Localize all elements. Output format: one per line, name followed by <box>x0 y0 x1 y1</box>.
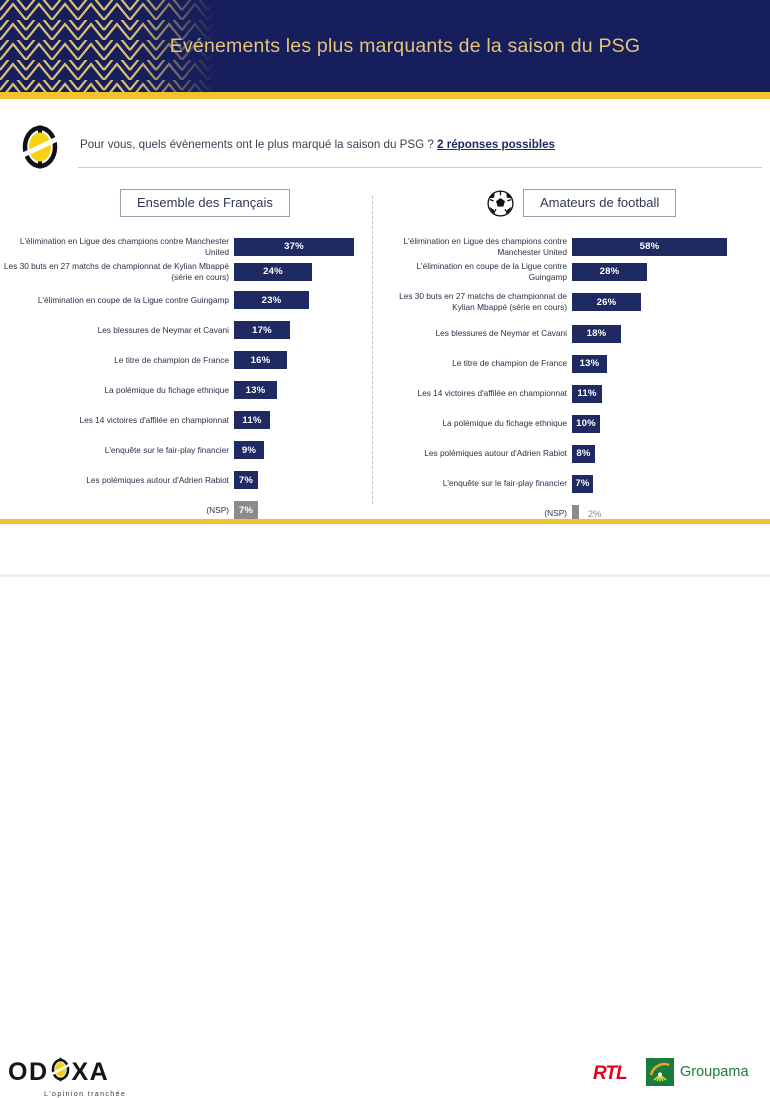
groupama-emblem-icon <box>646 1058 674 1086</box>
odoxa-o-icon <box>50 1057 71 1087</box>
rtl-logo: RTL <box>593 1063 627 1085</box>
chart-row: Les 14 victoires d'affilée en championna… <box>378 385 770 403</box>
bar: 18% <box>572 325 621 343</box>
bar: 17% <box>234 321 290 339</box>
chart-row: L'élimination en coupe de la Ligue contr… <box>0 291 372 309</box>
row-label: L'élimination en coupe de la Ligue contr… <box>378 261 572 282</box>
row-label: L'élimination en Ligue des champions con… <box>378 236 572 257</box>
bar-value: 11% <box>242 415 261 426</box>
bar: 9% <box>234 441 264 459</box>
bar-track: 11% <box>234 411 372 429</box>
odoxa-wordmark: OD XA <box>8 1057 126 1087</box>
bar-track: 18% <box>572 325 770 343</box>
header-white-rule <box>0 99 770 101</box>
bar: 7% <box>234 471 258 489</box>
row-label: Les 14 victoires d'affilée en championna… <box>0 415 234 426</box>
row-label: Les polémiques autour d'Adrien Rabiot <box>378 448 572 459</box>
bar-track: 11% <box>572 385 770 403</box>
bar-value: 13% <box>246 385 266 396</box>
page-header: Evénements les plus marquants de la sais… <box>0 0 770 92</box>
bar: 37% <box>234 238 354 256</box>
panel-label-amateurs-de-football: Amateurs de football <box>523 189 676 217</box>
chart-amateurs-de-football: L'élimination en Ligue des champions con… <box>378 236 770 527</box>
row-label: Le titre de champion de France <box>0 355 234 366</box>
bar: 26% <box>572 293 641 311</box>
row-label: (NSP) <box>0 505 234 516</box>
bar-track: 13% <box>234 381 372 399</box>
bar: 24% <box>234 263 312 281</box>
odoxa-logo-mark <box>17 124 63 170</box>
groupama-logo: Groupama <box>646 1058 749 1086</box>
odoxa-word-before: OD <box>8 1060 49 1085</box>
bar: 13% <box>234 381 277 399</box>
bar-track: 8% <box>572 445 770 463</box>
bar: 7% <box>572 475 593 493</box>
bar-value: 26% <box>597 297 617 308</box>
bar-value: 23% <box>262 295 282 306</box>
panel-heading-right: Amateurs de football <box>487 189 676 217</box>
bar: 13% <box>572 355 607 373</box>
bar-track: 7% <box>572 475 770 493</box>
bar-value: 16% <box>251 355 271 366</box>
bar-track: 58% <box>572 238 770 256</box>
bar-track: 23% <box>234 291 372 309</box>
row-label: Les 14 victoires d'affilée en championna… <box>378 388 572 399</box>
row-label: L'élimination en Ligue des champions con… <box>0 236 234 257</box>
header-gold-rule <box>0 92 770 99</box>
bar-value: 28% <box>600 266 620 277</box>
bar-value: 37% <box>284 241 304 252</box>
odoxa-tagline: L'opinion tranchée <box>44 1091 126 1098</box>
chart-row: Les blessures de Neymar et Cavani 18% <box>378 325 770 343</box>
bar: 7% <box>234 501 258 519</box>
question-text: Pour vous, quels évènements ont le plus … <box>80 138 437 151</box>
bar: 28% <box>572 263 647 281</box>
row-label: Les blessures de Neymar et Cavani <box>378 328 572 339</box>
chart-row: Les 30 buts en 27 matchs de championnat … <box>378 291 770 312</box>
bar: 8% <box>572 445 595 463</box>
bar-value: 7% <box>239 475 253 486</box>
panel-label-ensemble-des-francais: Ensemble des Français <box>120 189 290 217</box>
chart-row: La polémique du fichage ethnique 13% <box>0 381 372 399</box>
chart-row: Le titre de champion de France 16% <box>0 351 372 369</box>
chart-ensemble-des-francais: L'élimination en Ligue des champions con… <box>0 236 372 523</box>
soccer-ball-icon <box>487 190 514 217</box>
bar-track: 9% <box>234 441 372 459</box>
survey-question: Pour vous, quels évènements ont le plus … <box>80 138 720 151</box>
row-label: Les 30 buts en 27 matchs de championnat … <box>0 261 234 282</box>
question-emphasis: 2 réponses possibles <box>437 138 555 151</box>
row-label: Les 30 buts en 27 matchs de championnat … <box>378 291 572 312</box>
bar-track: 13% <box>572 355 770 373</box>
bar: 16% <box>234 351 287 369</box>
row-label: Les blessures de Neymar et Cavani <box>0 325 234 336</box>
panel-heading-left: Ensemble des Français <box>120 189 290 217</box>
bar-track: 26% <box>572 293 770 311</box>
row-label: L'élimination en coupe de la Ligue contr… <box>0 295 234 306</box>
chart-row: Les 14 victoires d'affilée en championna… <box>0 411 372 429</box>
bar-value: 7% <box>575 478 589 489</box>
bar-value: 58% <box>640 241 660 252</box>
bar: 11% <box>234 411 270 429</box>
bar-track: 17% <box>234 321 372 339</box>
chart-row: L'enquête sur le fair-play financier 9% <box>0 441 372 459</box>
groupama-label: Groupama <box>680 1064 749 1080</box>
row-label: Le titre de champion de France <box>378 358 572 369</box>
row-label: Les polémiques autour d'Adrien Rabiot <box>0 475 234 486</box>
row-label: La polémique du fichage ethnique <box>0 385 234 396</box>
row-label: (NSP) <box>378 508 572 519</box>
odoxa-word-after: XA <box>72 1060 110 1085</box>
chart-row: L'enquête sur le fair-play financier 7% <box>378 475 770 493</box>
chart-row: Les polémiques autour d'Adrien Rabiot 7% <box>0 471 372 489</box>
odoxa-logo: OD XA L'opinion tranchée <box>8 1057 126 1098</box>
bar-value: 7% <box>239 505 253 516</box>
bar: 23% <box>234 291 309 309</box>
bar-track: 7% <box>234 501 372 519</box>
page-footer: OD XA L'opinion tranchée RTL <box>0 524 770 577</box>
chart-row: L'élimination en coupe de la Ligue contr… <box>378 261 770 282</box>
row-label: La polémique du fichage ethnique <box>378 418 572 429</box>
bar-value: 8% <box>576 448 590 459</box>
bar-track: 28% <box>572 263 770 281</box>
chart-row: Les 30 buts en 27 matchs de championnat … <box>0 261 372 282</box>
chart-row-nsp: (NSP) 7% <box>0 501 372 519</box>
bar-value: 17% <box>252 325 272 336</box>
panel-divider <box>372 196 373 504</box>
bar-value: 24% <box>263 266 283 277</box>
chart-row: L'élimination en Ligue des champions con… <box>378 236 770 257</box>
question-divider <box>78 167 762 168</box>
chart-row: L'élimination en Ligue des champions con… <box>0 236 372 257</box>
bar-track: 24% <box>234 263 372 281</box>
bar: 58% <box>572 238 727 256</box>
page-title: Evénements les plus marquants de la sais… <box>0 0 770 92</box>
chart-row: Les polémiques autour d'Adrien Rabiot 8% <box>378 445 770 463</box>
row-label: L'enquête sur le fair-play financier <box>0 445 234 456</box>
bar-value: 18% <box>587 328 607 339</box>
bar: 11% <box>572 385 602 403</box>
bar-value: 11% <box>577 388 596 399</box>
bar-track: 10% <box>572 415 770 433</box>
row-label: L'enquête sur le fair-play financier <box>378 478 572 489</box>
bar-value: 9% <box>242 445 256 456</box>
chart-row: La polémique du fichage ethnique 10% <box>378 415 770 433</box>
bar-track: 7% <box>234 471 372 489</box>
chart-row: Le titre de champion de France 13% <box>378 355 770 373</box>
bar: 10% <box>572 415 600 433</box>
bar-track: 16% <box>234 351 372 369</box>
bar-value: 10% <box>576 418 596 429</box>
chart-row: Les blessures de Neymar et Cavani 17% <box>0 321 372 339</box>
bar-track: 37% <box>234 238 372 256</box>
bar-value: 13% <box>580 358 600 369</box>
